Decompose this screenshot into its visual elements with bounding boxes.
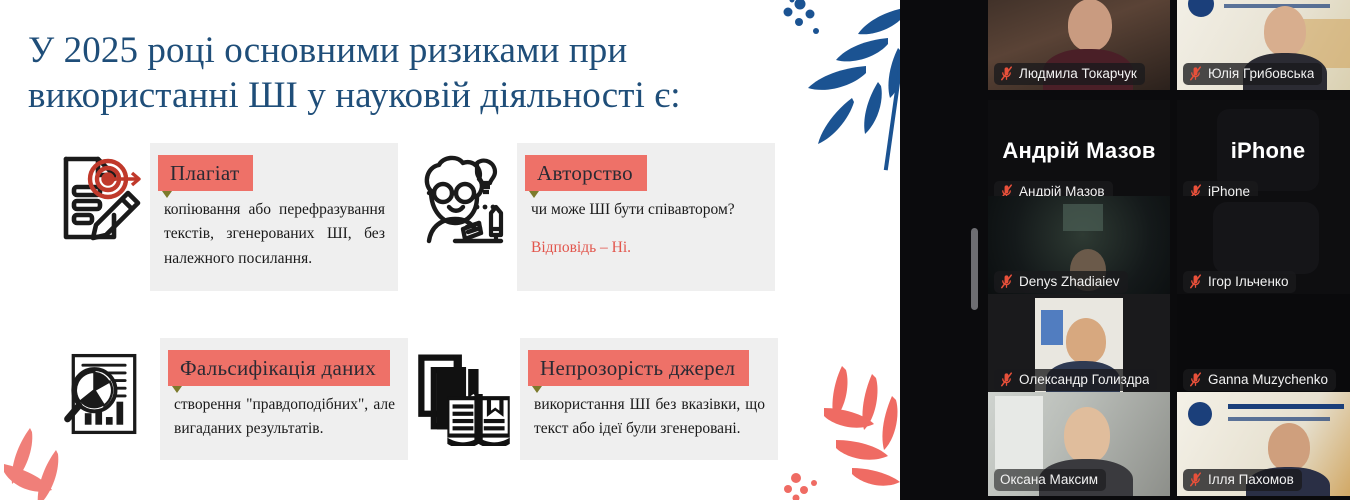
participant-name: Ілля Пахомов xyxy=(1208,471,1294,488)
card-heading: Авторство xyxy=(525,155,647,191)
card-text: використання ШІ без вказівки, що текст а… xyxy=(520,386,778,456)
card-answer: Відповідь – Ні. xyxy=(531,236,762,260)
gallery-scrollbar[interactable] xyxy=(971,228,978,310)
risk-card-plagiat: Плагіат копіювання або перефразування те… xyxy=(38,143,398,291)
coral-foliage-decoration xyxy=(780,356,900,500)
card-text: створення "правдоподібних", але вигадани… xyxy=(160,386,408,456)
mic-muted-icon xyxy=(1189,274,1202,289)
participant-name: Олександр Голиздра xyxy=(1019,371,1149,388)
participant-tile[interactable]: Олександр Голиздра xyxy=(988,294,1170,396)
document-target-pencil-icon xyxy=(38,143,150,255)
participant-tile[interactable]: Андрій Мазов Андрій Мазов xyxy=(988,100,1170,208)
risk-card-falsyfikatsiya: Фальсифікація даних створення "правдопод… xyxy=(48,338,408,460)
card-heading: Плагіат xyxy=(158,155,253,191)
card-heading-wrap: Фальсифікація даних xyxy=(160,338,408,386)
participant-tile[interactable]: Ganna Muzychenko xyxy=(1177,294,1350,396)
participant-name-bar: Юлія Грибовська xyxy=(1183,63,1322,85)
participant-name-bar: Ігор Ільченко xyxy=(1183,271,1296,293)
participant-name-bar: Ganna Muzychenko xyxy=(1183,369,1336,391)
participant-name-bar: Олександр Голиздра xyxy=(994,369,1157,391)
blue-foliage-decoration xyxy=(766,0,900,171)
participant-big-name: Андрій Мазов xyxy=(988,138,1170,164)
card-heading-wrap: Авторство xyxy=(517,143,775,191)
participant-name: Оксана Максим xyxy=(1000,471,1098,488)
zoom-participants-panel: Людмила Токарчук Юлія ГрибовськаАндрій М… xyxy=(900,0,1350,500)
participant-name-bar: Denys Zhadiaiev xyxy=(994,271,1128,293)
magnifier-chart-icon xyxy=(48,338,160,450)
participant-name-bar: Оксана Максим xyxy=(994,469,1106,491)
participant-gallery[interactable]: Людмила Токарчук Юлія ГрибовськаАндрій М… xyxy=(900,0,1350,500)
mic-muted-icon xyxy=(1189,372,1202,387)
participant-name: Denys Zhadiaiev xyxy=(1019,273,1120,290)
card-body: Фальсифікація даних створення "правдопод… xyxy=(160,338,408,460)
card-body: Авторство чи може ШІ бути співавтором? В… xyxy=(517,143,775,291)
risk-card-avtorstvo: Авторство чи може ШІ бути співавтором? В… xyxy=(405,143,775,291)
mic-muted-icon xyxy=(1189,66,1202,81)
participant-name-bar: Ілля Пахомов xyxy=(1183,469,1302,491)
card-text-main: чи може ШІ бути співавтором? xyxy=(531,201,735,218)
risk-card-neprozorist: Непрозорість джерел використання ШІ без … xyxy=(408,338,778,460)
heading-tick-marker xyxy=(532,386,542,393)
participant-name: Ігор Ільченко xyxy=(1208,273,1288,290)
participant-tile[interactable]: Ігор Ільченко xyxy=(1177,196,1350,298)
card-heading-wrap: Непрозорість джерел xyxy=(520,338,778,386)
participant-name: Юлія Грибовська xyxy=(1208,65,1314,82)
mic-muted-icon xyxy=(1000,66,1013,81)
participant-name: Людмила Токарчук xyxy=(1019,65,1137,82)
participant-tile[interactable]: iPhone iPhone xyxy=(1177,100,1350,208)
heading-tick-marker xyxy=(529,191,539,198)
participant-tile[interactable]: Юлія Грибовська xyxy=(1177,0,1350,90)
student-idea-pencil-icon xyxy=(405,143,517,255)
participant-name-bar: Людмила Токарчук xyxy=(994,63,1145,85)
participant-tile[interactable]: Оксана Максим xyxy=(988,392,1170,496)
mic-muted-icon xyxy=(1189,472,1202,487)
card-body: Плагіат копіювання або перефразування те… xyxy=(150,143,398,291)
mic-muted-icon xyxy=(1000,274,1013,289)
participant-tile[interactable]: Людмила Токарчук xyxy=(988,0,1170,90)
mic-muted-icon xyxy=(1000,372,1013,387)
participant-tile[interactable]: Ілля Пахомов xyxy=(1177,392,1350,496)
card-heading: Фальсифікація даних xyxy=(168,350,390,386)
card-body: Непрозорість джерел використання ШІ без … xyxy=(520,338,778,460)
card-heading-wrap: Плагіат xyxy=(150,143,398,191)
card-text: чи може ШІ бути співавтором? Відповідь –… xyxy=(517,191,775,275)
shared-slide: У 2025 році основними ризиками при викор… xyxy=(0,0,900,500)
participant-big-name: iPhone xyxy=(1177,138,1350,164)
card-heading: Непрозорість джерел xyxy=(528,350,749,386)
screen-root: У 2025 році основними ризиками при викор… xyxy=(0,0,1350,500)
page-title: У 2025 році основними ризиками при викор… xyxy=(28,28,728,118)
participant-name: Ganna Muzychenko xyxy=(1208,371,1328,388)
books-stack-icon xyxy=(408,338,520,450)
card-text: копіювання або перефразування текстів, з… xyxy=(150,191,398,285)
heading-tick-marker xyxy=(162,191,172,198)
participant-tile[interactable]: Denys Zhadiaiev xyxy=(988,196,1170,298)
heading-tick-marker xyxy=(172,386,182,393)
